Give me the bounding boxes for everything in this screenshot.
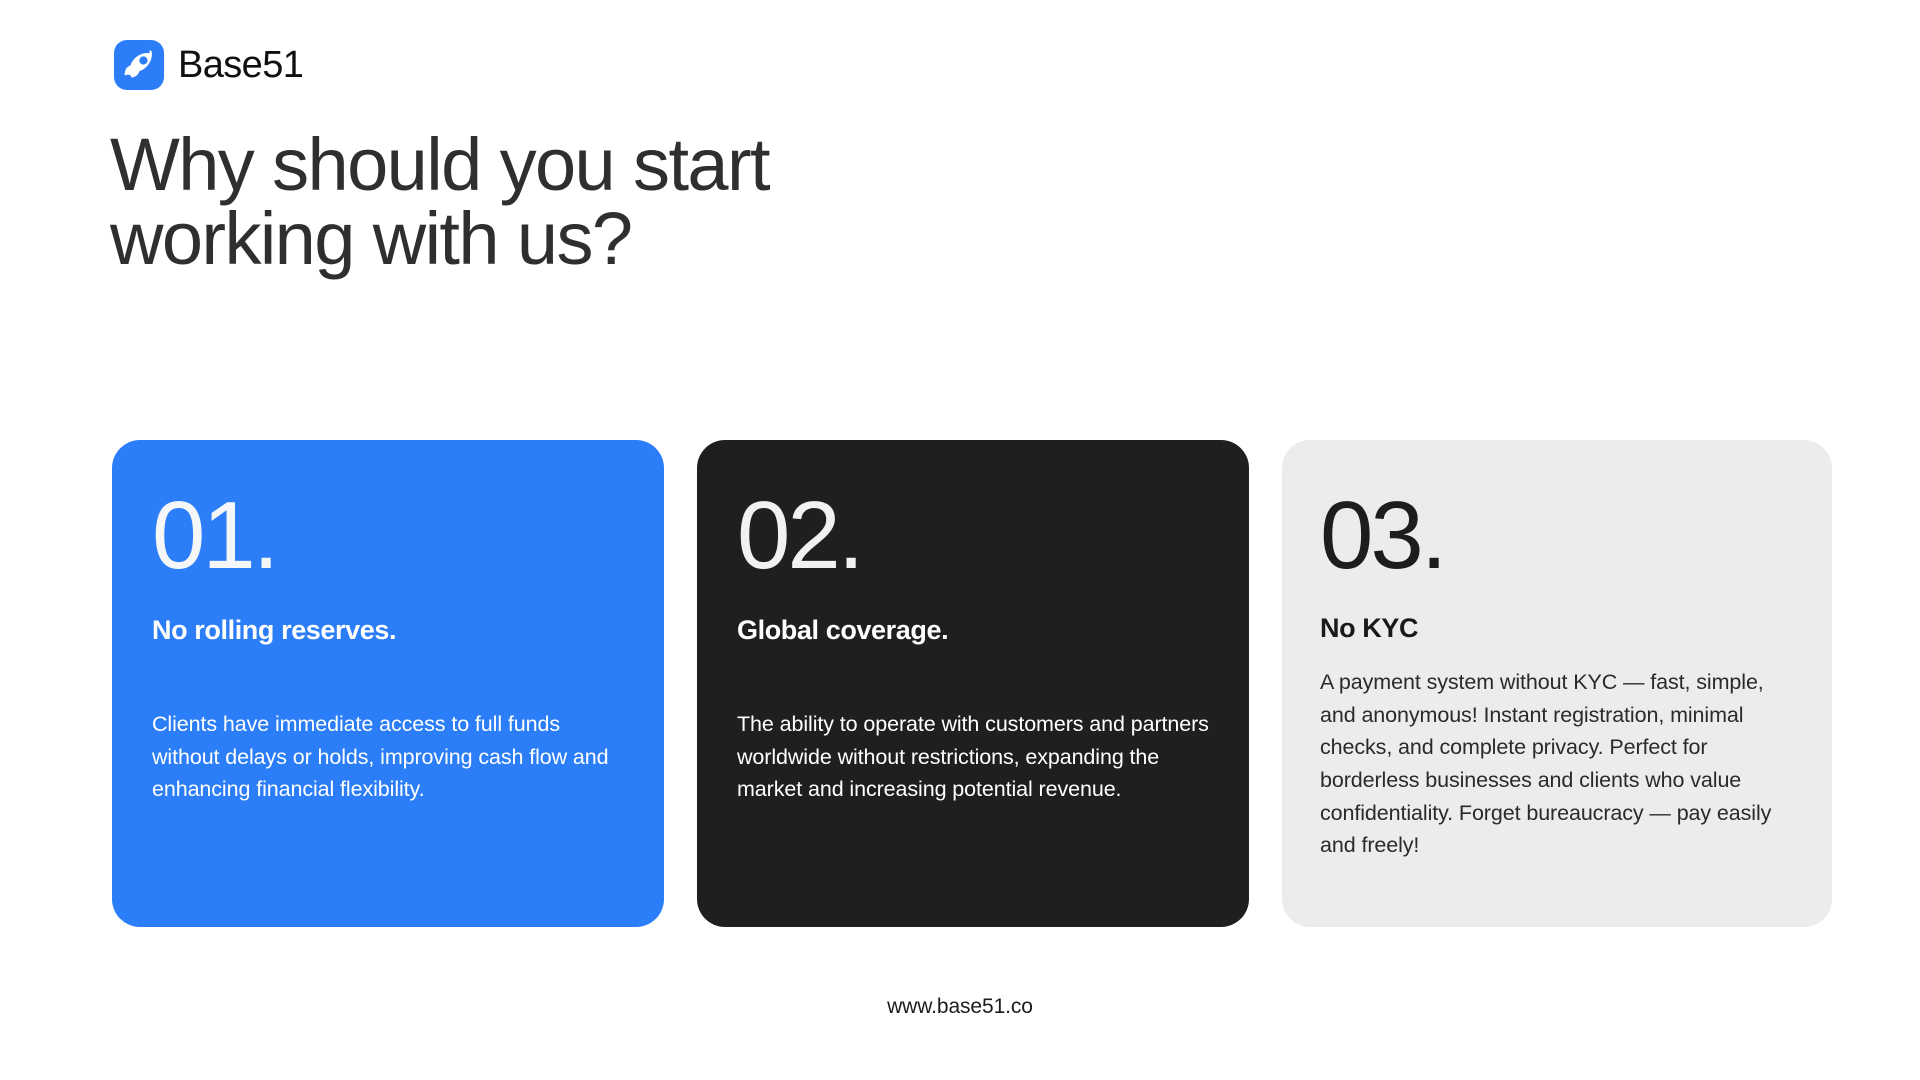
card-title: Global coverage.	[737, 616, 1209, 646]
feature-card-list: 01. No rolling reserves. Clients have im…	[112, 440, 1832, 927]
card-body: A payment system without KYC — fast, sim…	[1320, 666, 1792, 862]
card-number: 03.	[1320, 492, 1792, 580]
card-body: Clients have immediate access to full fu…	[152, 708, 624, 806]
card-body: The ability to operate with customers an…	[737, 708, 1209, 806]
footer-website-url[interactable]: www.base51.co	[0, 995, 1920, 1019]
card-number: 01.	[152, 492, 624, 580]
brand-name: Base51	[178, 46, 303, 84]
page-title-line-1: Why should you start	[110, 128, 1010, 202]
card-title: No KYC	[1320, 614, 1792, 644]
card-number: 02.	[737, 492, 1209, 580]
brand-lockup[interactable]: Base51	[114, 40, 303, 90]
rocket-icon	[114, 40, 164, 90]
card-title: No rolling reserves.	[152, 616, 624, 646]
page-title-line-2: working with us?	[110, 202, 1010, 276]
page-title: Why should you start working with us?	[110, 128, 1010, 276]
slide: Base51 Why should you start working with…	[0, 0, 1920, 1080]
feature-card-02: 02. Global coverage. The ability to oper…	[697, 440, 1249, 927]
feature-card-03: 03. No KYC A payment system without KYC …	[1282, 440, 1832, 927]
feature-card-01: 01. No rolling reserves. Clients have im…	[112, 440, 664, 927]
